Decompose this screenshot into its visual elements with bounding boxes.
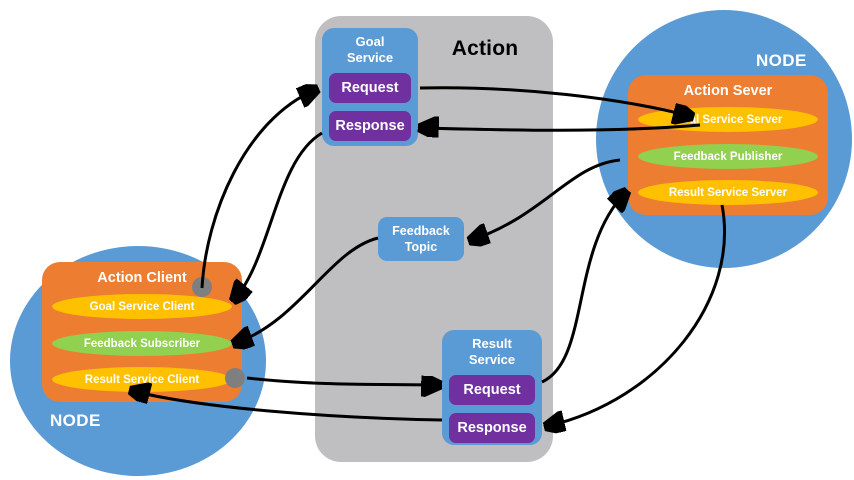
result-service-client-pill[interactable]: Result Service Client (52, 367, 232, 392)
action-server-box: Action Sever Goal Service Server Feedbac… (628, 75, 828, 215)
action-server-title: Action Sever (628, 83, 828, 99)
action-client-title: Action Client (42, 270, 242, 286)
arrow-goal-request-client-to-action (202, 90, 315, 288)
node-right-label: NODE (756, 51, 807, 71)
result-client-connector-dot (225, 368, 245, 388)
goal-service-response-box[interactable]: Response (329, 111, 411, 141)
feedback-topic-box[interactable]: Feedback Topic (378, 217, 464, 261)
result-service-title-line2: Service (442, 352, 542, 368)
action-client-box: Action Client Goal Service Client Feedba… (42, 262, 242, 402)
goal-service-title-line2: Service (322, 50, 418, 66)
arrow-goal-response-action-to-client (235, 133, 322, 299)
result-service-server-pill[interactable]: Result Service Server (638, 180, 818, 205)
result-service-request-box[interactable]: Request (449, 375, 535, 405)
goal-service-client-pill[interactable]: Goal Service Client (52, 294, 232, 319)
goal-service-box: Goal Service Request Response (322, 28, 418, 146)
goal-service-request-box[interactable]: Request (329, 73, 411, 103)
goal-service-title-line1: Goal (322, 34, 418, 50)
result-service-response-box[interactable]: Response (449, 413, 535, 443)
goal-service-server-pill[interactable]: Goal Service Server (638, 107, 818, 132)
feedback-topic-line2: Topic (392, 239, 450, 255)
diagram-canvas: Action NODE Action Sever Goal Service Se… (0, 0, 854, 480)
feedback-subscriber-pill[interactable]: Feedback Subscriber (52, 331, 232, 356)
arrow-result-request-action-to-server (542, 193, 625, 382)
result-service-box: Result Service Request Response (442, 330, 542, 445)
feedback-topic-line1: Feedback (392, 223, 450, 239)
result-service-title: Result Service (442, 336, 542, 368)
feedback-topic-label: Feedback Topic (392, 223, 450, 255)
goal-service-title: Goal Service (322, 34, 418, 66)
node-left-label: NODE (50, 411, 101, 431)
result-service-title-line1: Result (442, 336, 542, 352)
goal-client-connector-dot (192, 277, 212, 297)
action-panel-title: Action (420, 37, 550, 61)
feedback-publisher-pill[interactable]: Feedback Publisher (638, 144, 818, 169)
